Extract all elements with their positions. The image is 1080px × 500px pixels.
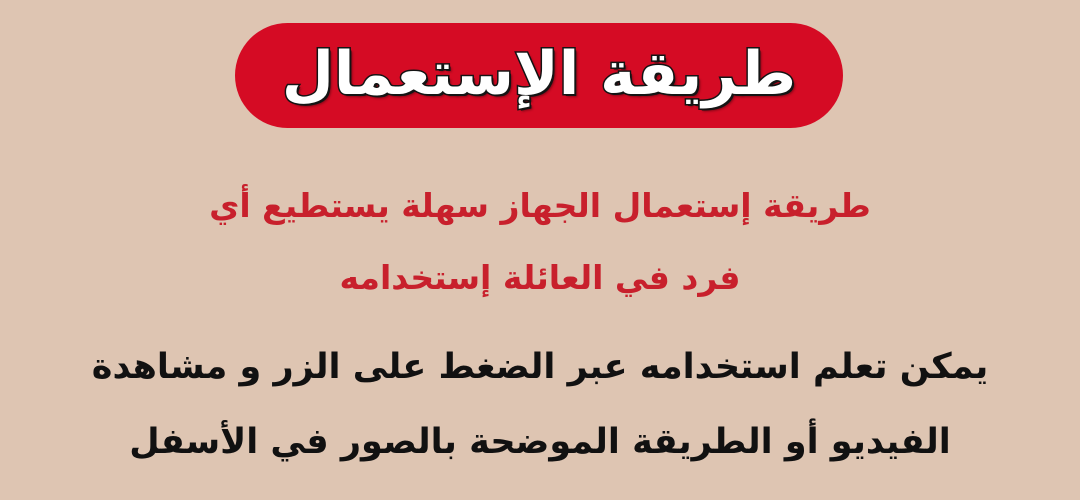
description-line-2: الفيديو أو الطريقة الموضحة بالصور في الأ… bbox=[0, 405, 1080, 480]
highlight-text-block: طريقة إستعمال الجهاز سهلة يستطيع أي فرد … bbox=[0, 170, 1080, 314]
highlight-line-1: طريقة إستعمال الجهاز سهلة يستطيع أي bbox=[0, 170, 1080, 242]
description-text-block: يمكن تعلم استخدامه عبر الضغط على الزر و … bbox=[0, 330, 1080, 480]
highlight-line-2: فرد في العائلة إستخدامه bbox=[0, 242, 1080, 314]
description-line-1: يمكن تعلم استخدامه عبر الضغط على الزر و … bbox=[0, 330, 1080, 405]
title-badge: طريقة الإستعمال bbox=[235, 23, 843, 128]
promo-poster: طريقة الإستعمال طريقة إستعمال الجهاز سهل… bbox=[0, 0, 1080, 500]
page-title: طريقة الإستعمال bbox=[282, 44, 796, 104]
